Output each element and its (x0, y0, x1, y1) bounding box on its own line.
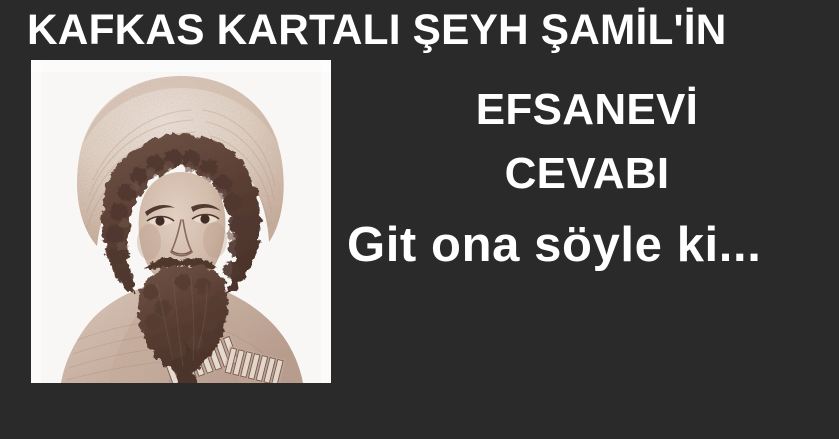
subheadline-line-1: EFSANEVİ (352, 78, 822, 142)
subheadline: EFSANEVİ CEVABI (352, 78, 822, 206)
tagline: Git ona söyle ki... (347, 214, 817, 276)
promo-banner: KAFKAS KARTALI ŞEYH ŞAMİL'İN (0, 0, 839, 439)
page-title: KAFKAS KARTALI ŞEYH ŞAMİL'İN (27, 6, 805, 54)
sheikh-shamil-portrait-illustration (31, 60, 331, 383)
subheadline-line-2: CEVABI (352, 142, 822, 206)
portrait-image (31, 60, 331, 383)
